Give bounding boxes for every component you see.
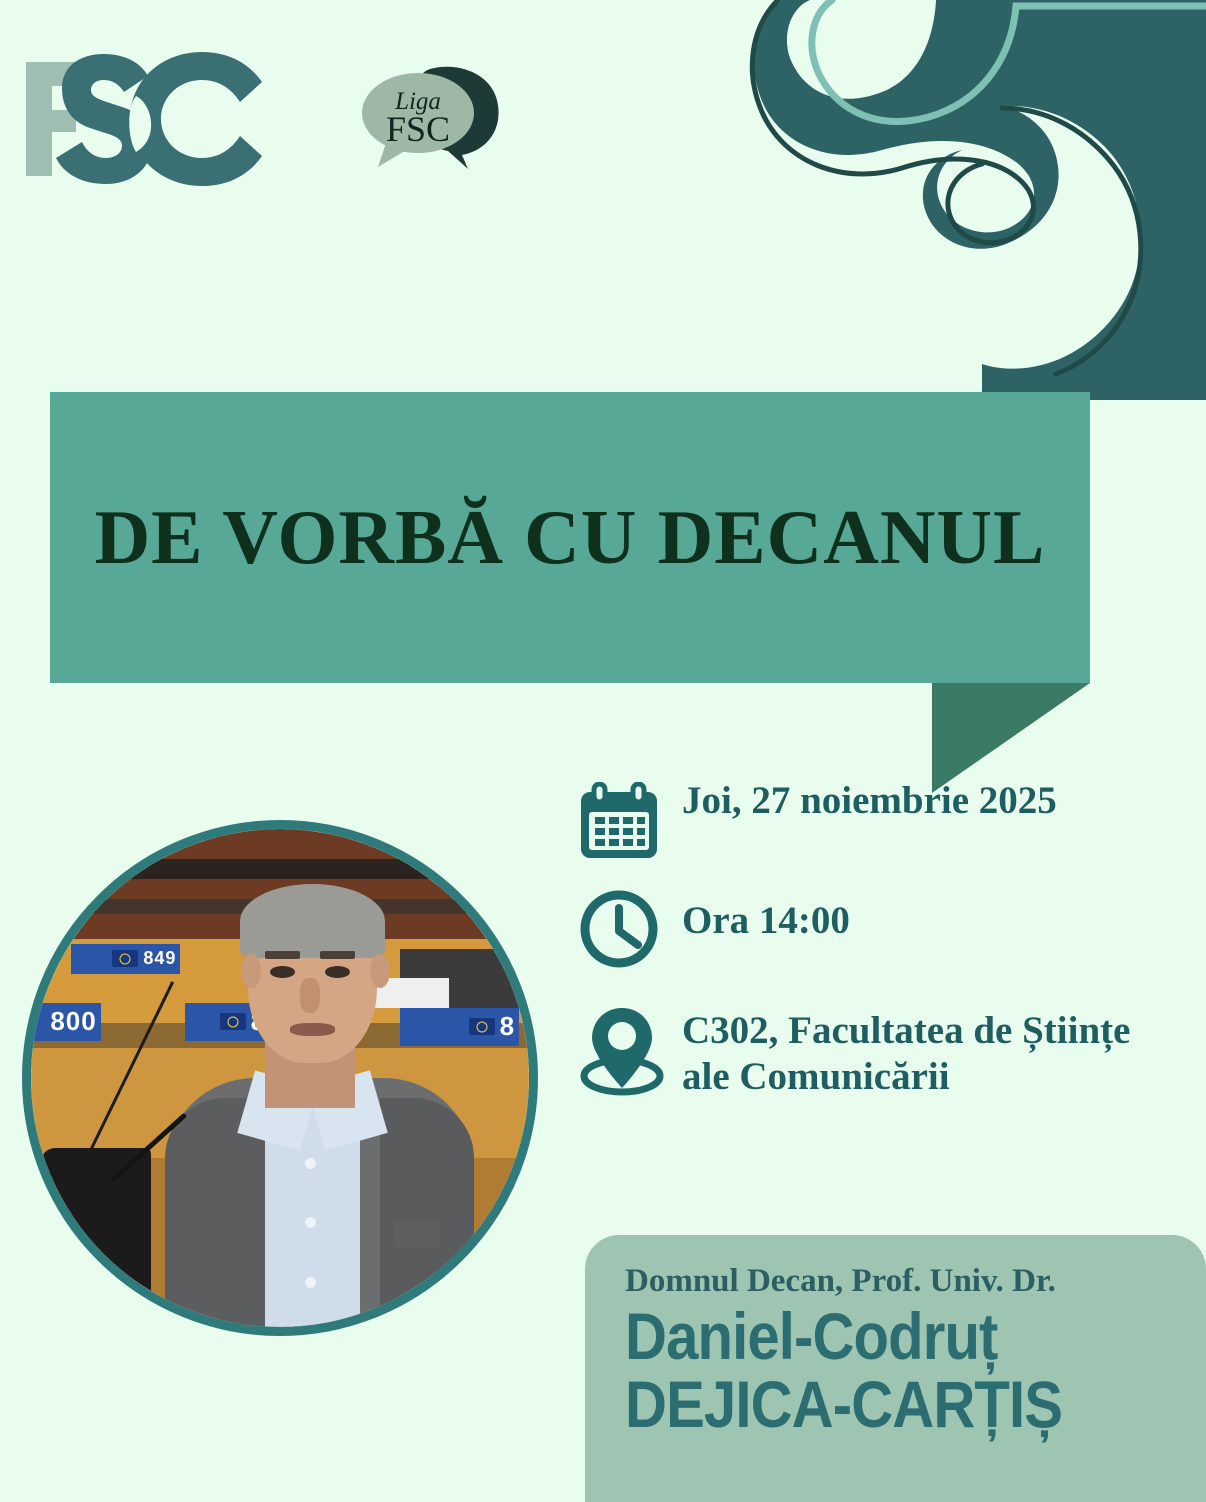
- liga-fsc-logo: Liga FSC: [356, 63, 506, 175]
- eu-flag-icon: [112, 950, 138, 967]
- desk-plate: 800: [31, 1003, 101, 1040]
- photo-shirt-button: [305, 1277, 316, 1288]
- event-poster: Liga FSC DE VORBĂ CU DECANUL 849 800: [0, 0, 1206, 1502]
- photo-ear-left: [241, 954, 261, 989]
- decorative-blob: [686, 0, 1206, 400]
- desk-plate: 849: [71, 944, 181, 975]
- title-banner: DE VORBĂ CU DECANUL: [50, 392, 1090, 683]
- desk-plate-number: 8: [500, 1011, 515, 1042]
- fsc-logo: [18, 44, 278, 194]
- eu-flag-icon: [469, 1018, 495, 1035]
- photo-suit-right: [380, 1098, 475, 1327]
- photo-ear-right: [370, 954, 390, 989]
- detail-row-date: Joi, 27 noiembrie 2025: [578, 778, 1178, 862]
- photo-nose: [300, 978, 320, 1013]
- logo-row: Liga FSC: [18, 44, 506, 194]
- location-pin-icon: [578, 1000, 682, 1096]
- event-details: Joi, 27 noiembrie 2025 Ora 14:00 C302, F…: [578, 778, 1178, 1122]
- page-title: DE VORBĂ CU DECANUL: [95, 499, 1046, 576]
- speaker-photo: 849 800 8 8: [22, 820, 538, 1336]
- desk-plate-number: 849: [143, 948, 176, 969]
- eu-flag-icon: [220, 1013, 246, 1030]
- speaker-last-name: DEJICA-CARȚIȘ: [625, 1371, 1136, 1438]
- photo-wall-band: [31, 859, 529, 879]
- detail-row-time: Ora 14:00: [578, 884, 1178, 970]
- speaker-role: Domnul Decan, Prof. Univ. Dr.: [625, 1263, 1206, 1299]
- speaker-panel: Domnul Decan, Prof. Univ. Dr. Daniel-Cod…: [585, 1235, 1206, 1502]
- detail-row-location: C302, Facultatea de Științe ale Comunică…: [578, 1000, 1178, 1100]
- calendar-icon: [578, 778, 682, 862]
- speaker-first-name: Daniel-Codruț: [625, 1303, 1136, 1370]
- photo-hair: [240, 884, 384, 959]
- photo-jacket-pocket: [395, 1222, 440, 1247]
- clock-icon: [578, 884, 682, 970]
- liga-logo-line2: FSC: [386, 109, 450, 149]
- event-location-text: C302, Facultatea de Științe ale Comunică…: [682, 1000, 1178, 1100]
- event-date-text: Joi, 27 noiembrie 2025: [682, 778, 1057, 824]
- event-time-text: Ora 14:00: [682, 884, 850, 944]
- banner-tail: [932, 683, 1090, 793]
- photo-eye-right: [325, 966, 350, 978]
- desk-plate: 8: [400, 1008, 520, 1045]
- photo-mouth: [290, 1023, 335, 1036]
- desk-plate-number: 800: [50, 1006, 96, 1037]
- photo-shirt-button: [305, 1158, 316, 1169]
- photo-chair: [41, 1148, 151, 1327]
- photo-eye-left: [270, 966, 295, 978]
- photo-brow-right: [320, 951, 355, 959]
- photo-brow-left: [265, 951, 300, 959]
